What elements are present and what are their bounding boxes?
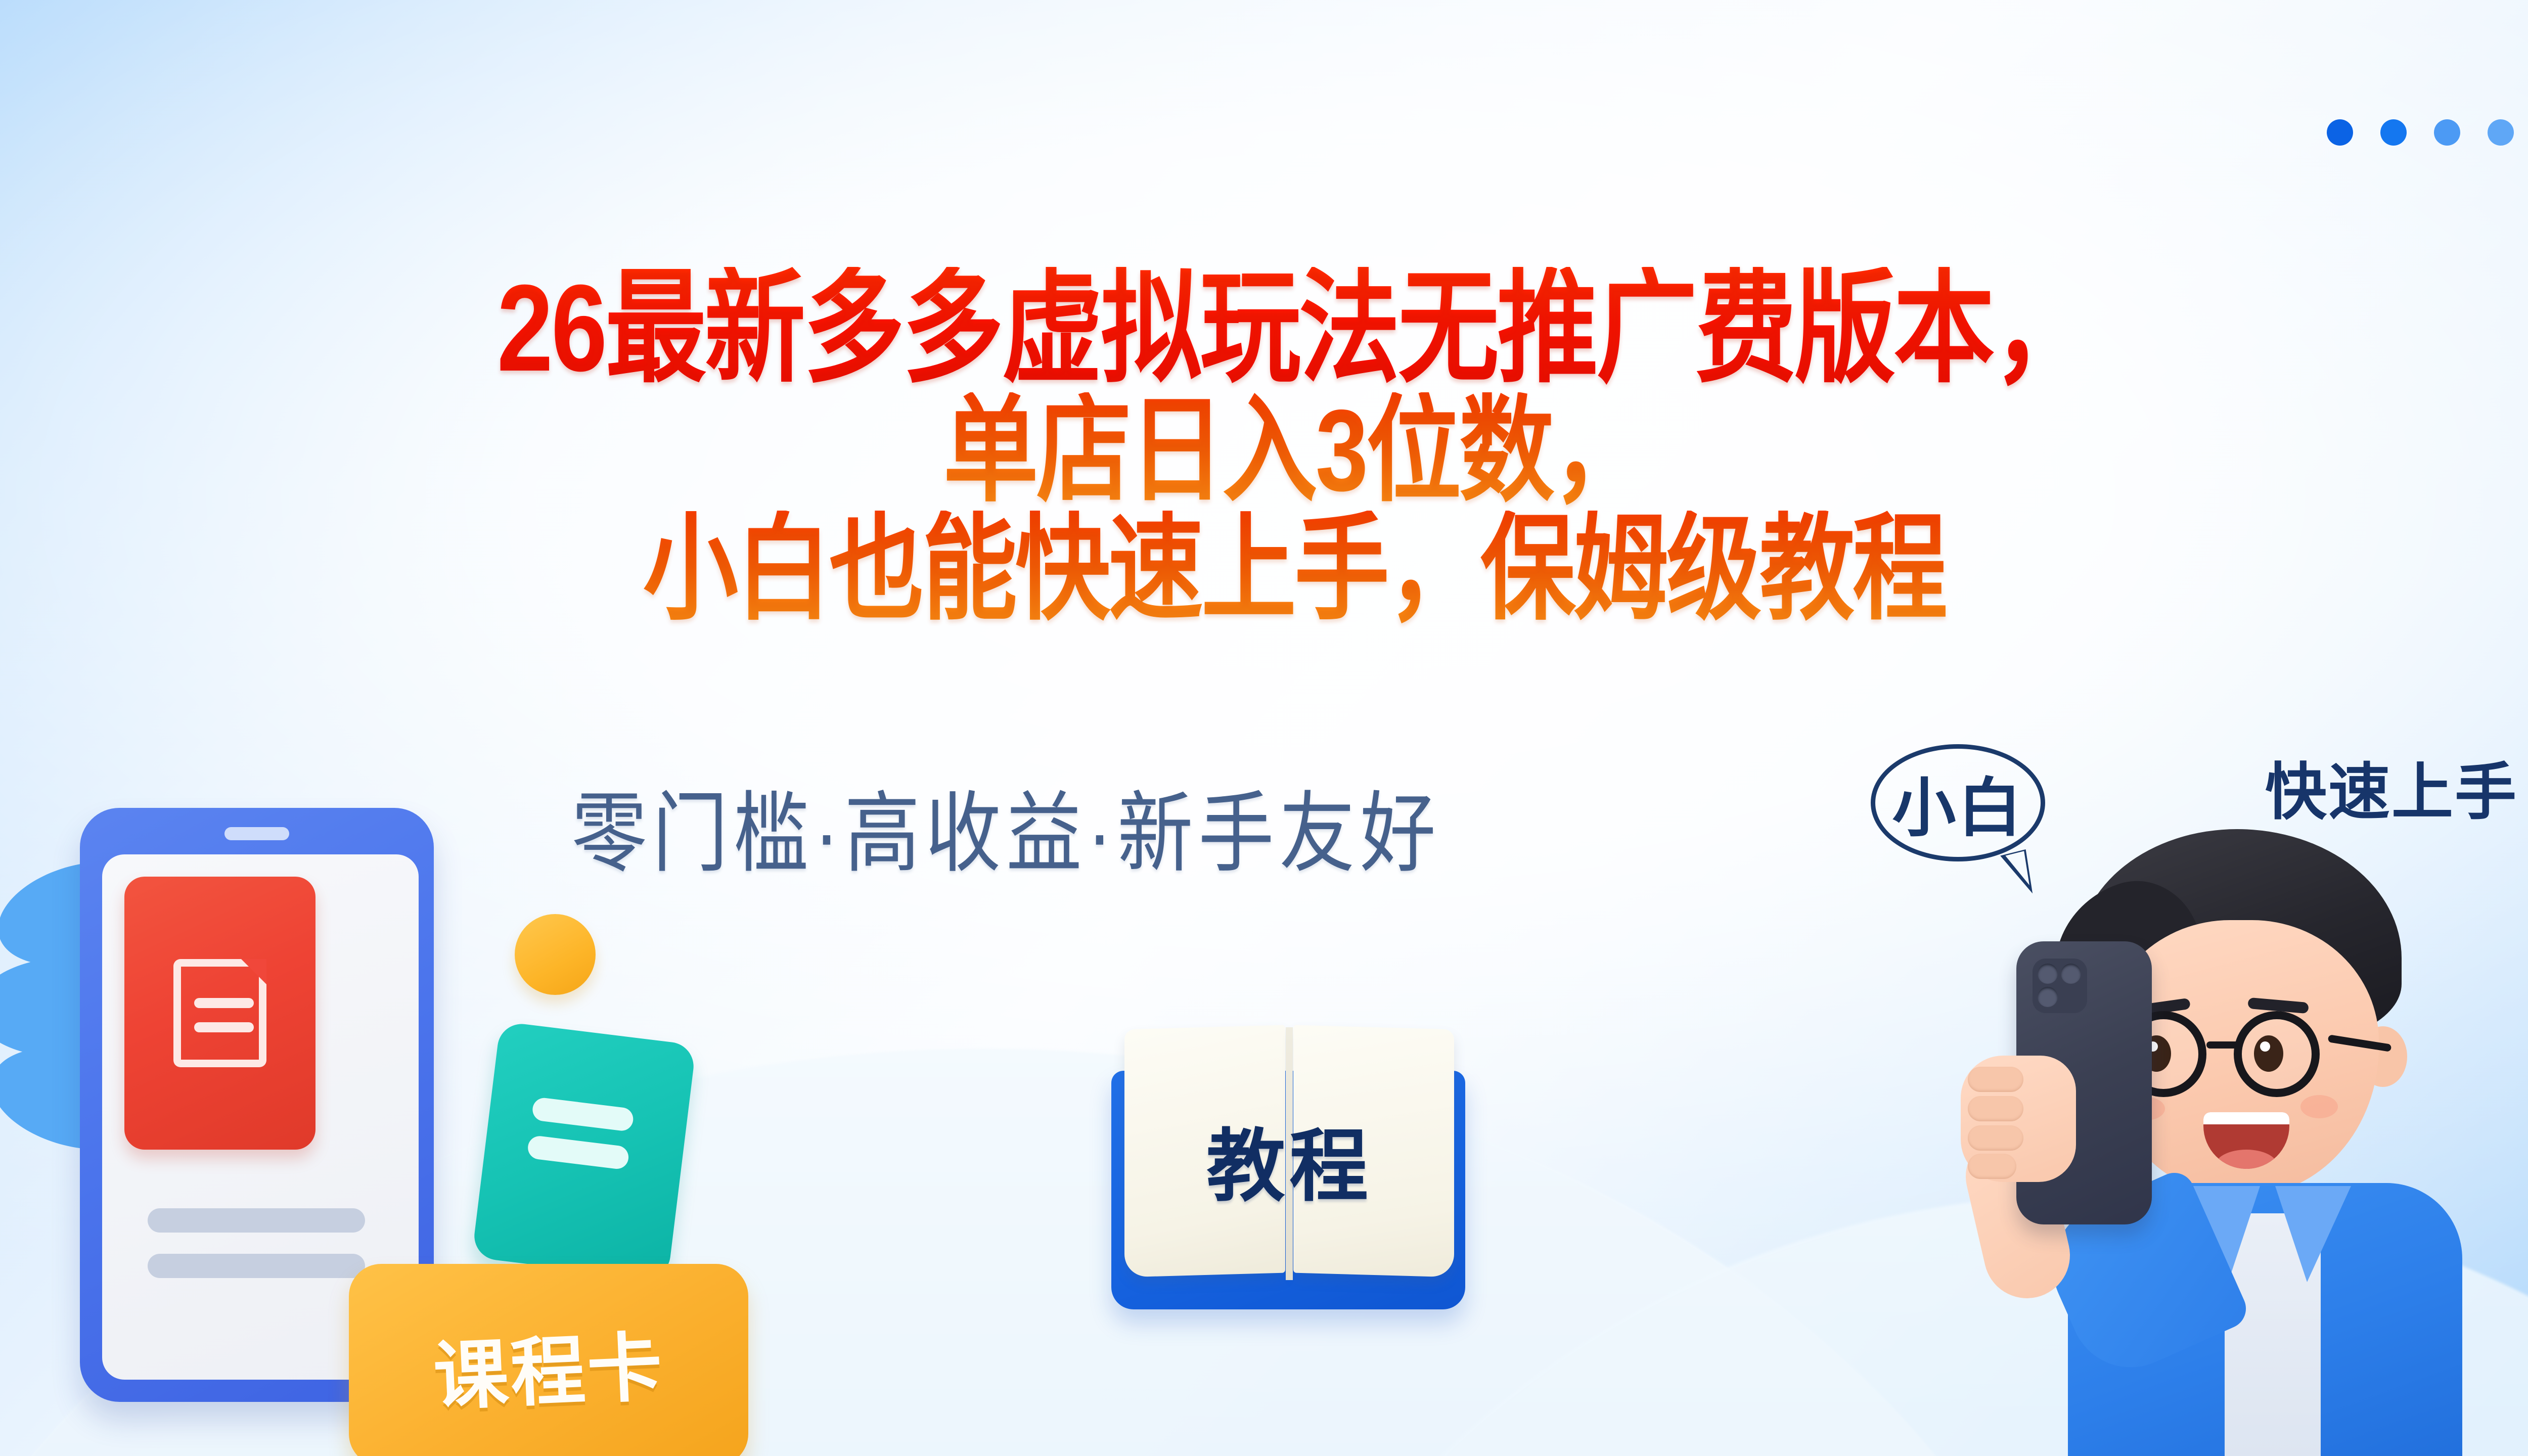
headline-line-2: 单店日入3位数， — [0, 392, 2528, 508]
open-book-illustration: 教程 — [1062, 986, 1517, 1340]
speech-bubble-label: 小白 — [1875, 749, 2041, 857]
character-finger-4-icon — [1968, 1154, 2016, 1179]
course-card-label: 课程卡 — [431, 1306, 666, 1425]
character-finger-1-icon — [1968, 1067, 2023, 1092]
course-card-badge: 课程卡 — [349, 1264, 748, 1456]
teal-card-icon — [472, 1021, 696, 1281]
headline-line-1: 26最新多多虚拟玩法无推广费版本， — [0, 267, 2528, 390]
glasses-bridge-icon — [2206, 1041, 2242, 1049]
document-line-1-icon — [194, 998, 254, 1008]
character-finger-2-icon — [1968, 1096, 2023, 1121]
document-card-icon — [124, 877, 315, 1150]
headline-line-3: 小白也能快速上手，保姆级教程 — [0, 511, 2528, 626]
book-label: 教程 — [1062, 1102, 1517, 1216]
dot-2-icon — [2380, 119, 2407, 146]
character-cheek-right-icon — [2300, 1095, 2338, 1118]
placeholder-bar-1 — [148, 1208, 365, 1233]
dot-1-icon — [2327, 119, 2353, 146]
glasses-temple-icon — [2328, 1034, 2392, 1052]
quick-start-tag: 快速上手 — [2265, 742, 2518, 832]
phone-camera-lens-2-icon — [2061, 964, 2081, 984]
document-glyph-icon — [173, 959, 266, 1067]
corner-dots-decoration — [2327, 119, 2514, 146]
speech-bubble: 小白 — [1871, 744, 2045, 861]
tablet-speaker-icon — [224, 827, 289, 840]
left-illustration-group: 课程卡 — [20, 794, 779, 1456]
subtitle-text: 零门槛·高收益·新手友好 — [571, 762, 1441, 890]
phone-camera-lens-1-icon — [2038, 964, 2058, 984]
phone-camera-module-icon — [2033, 959, 2087, 1013]
placeholder-bar-2 — [148, 1254, 365, 1278]
dot-4-icon — [2488, 119, 2514, 146]
dot-3-icon — [2434, 119, 2460, 146]
phone-camera-lens-3-icon — [2038, 987, 2058, 1007]
character-finger-3-icon — [1968, 1125, 2023, 1151]
headline-block: 26最新多多虚拟玩法无推广费版本， 单店日入3位数， 小白也能快速上手，保姆级教… — [0, 267, 2528, 606]
document-line-2-icon — [194, 1022, 254, 1032]
teal-card-line-2-icon — [527, 1135, 630, 1170]
teal-card-line-1-icon — [531, 1097, 635, 1132]
promo-banner: 26最新多多虚拟玩法无推广费版本， 单店日入3位数， 小白也能快速上手，保姆级教… — [0, 0, 2528, 1456]
yellow-sphere-icon — [515, 914, 596, 995]
character-boy-with-phone — [1830, 809, 2528, 1456]
character-eye-right-icon — [2254, 1035, 2283, 1072]
